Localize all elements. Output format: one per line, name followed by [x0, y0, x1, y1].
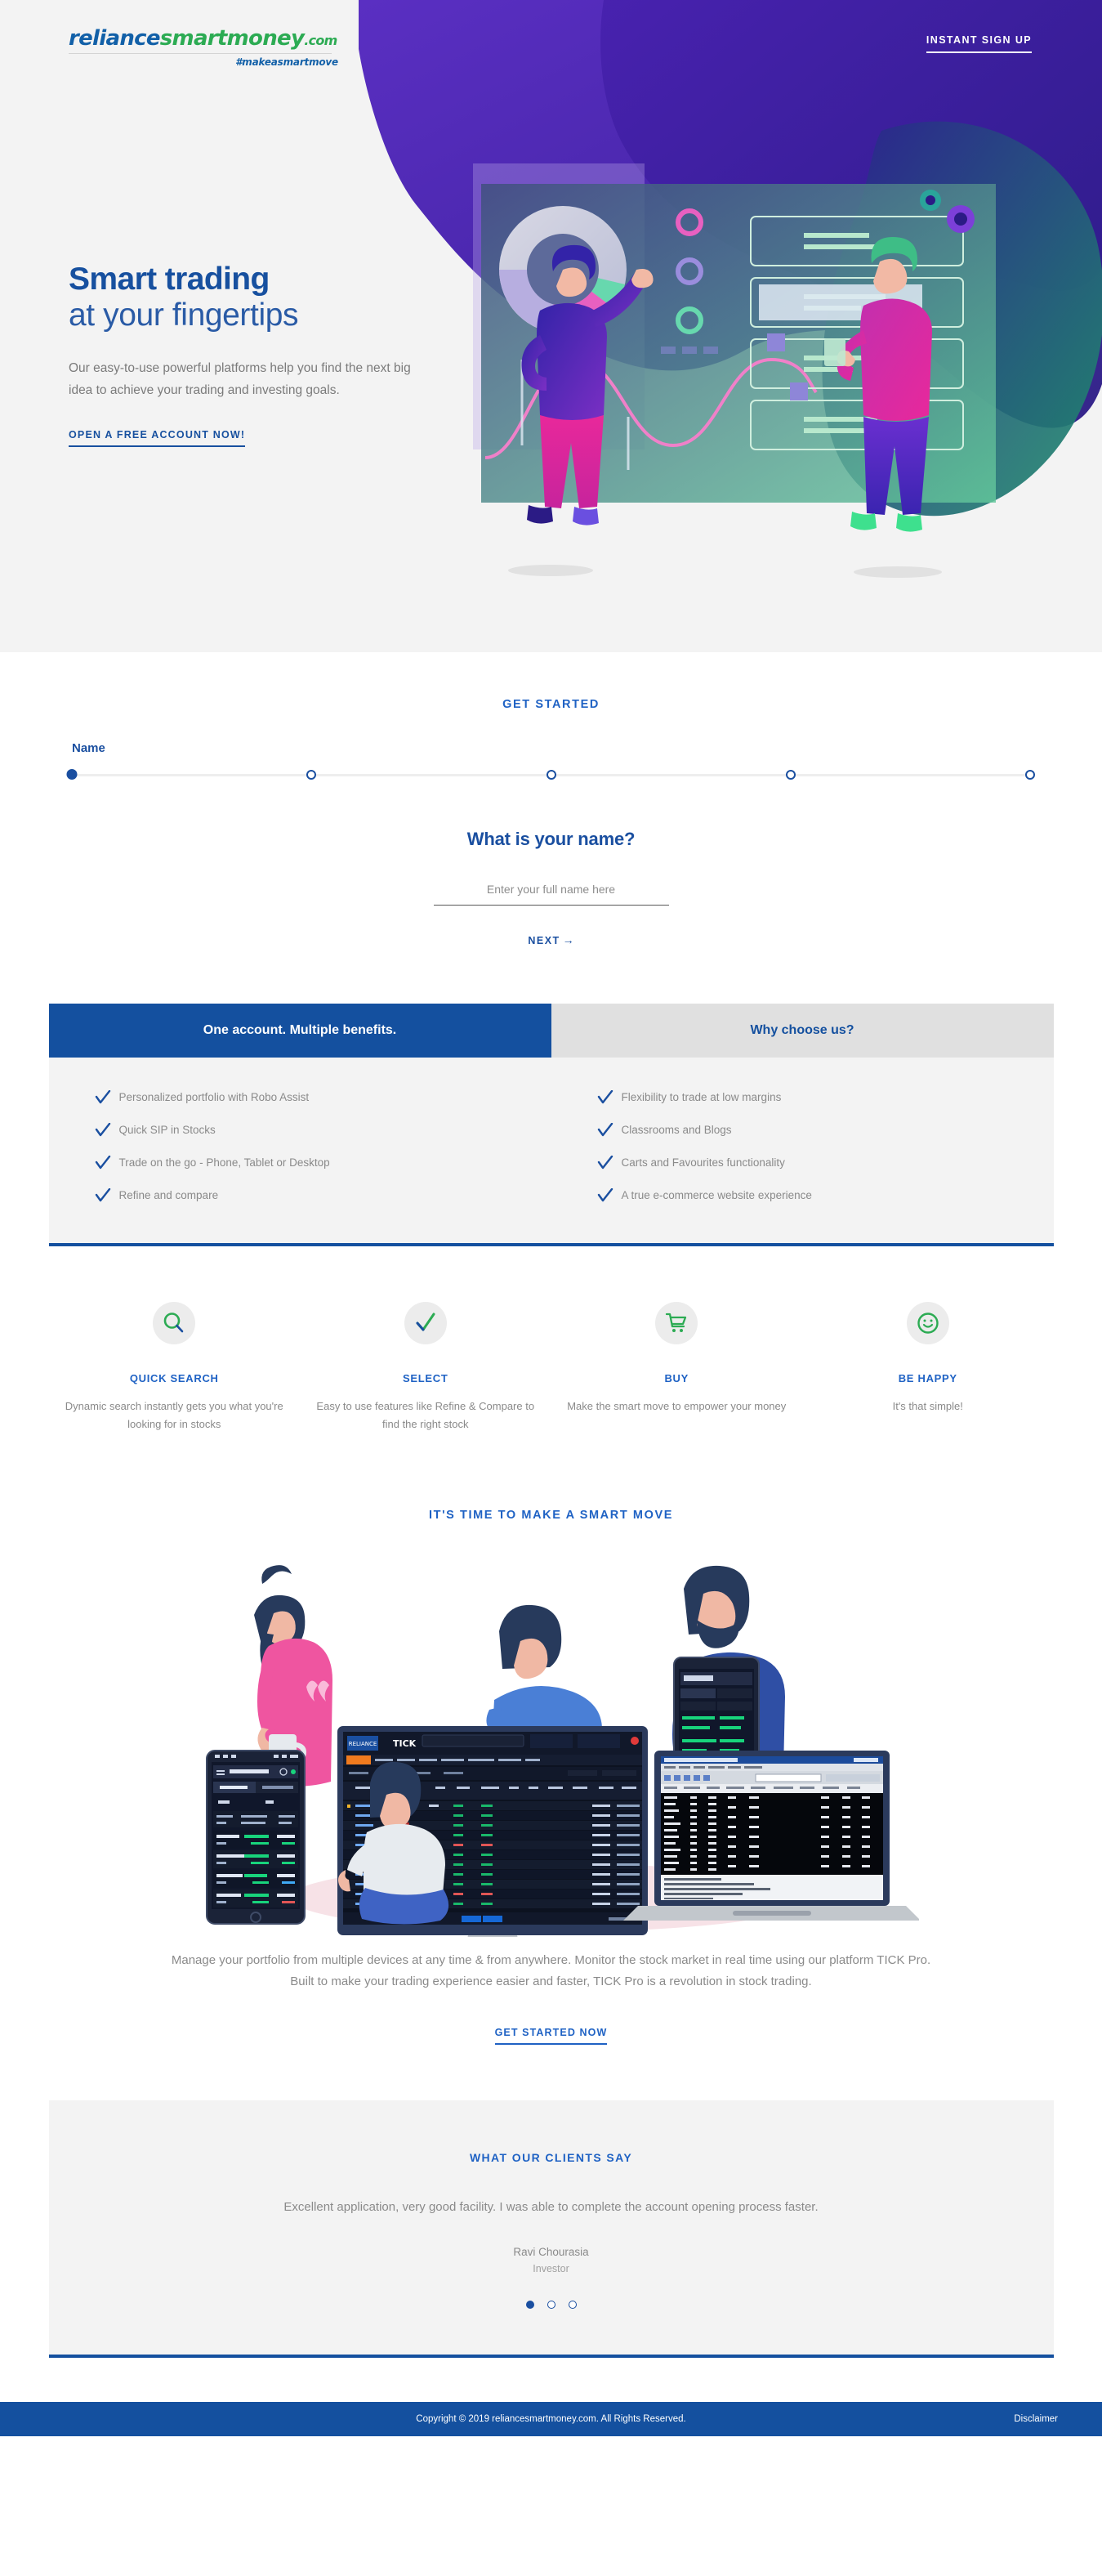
- benefit-item: Trade on the go - Phone, Tablet or Deskt…: [95, 1156, 551, 1171]
- logo-text-smartmoney: smartmoney: [160, 26, 304, 51]
- site-logo[interactable]: reliancesmartmoney.com #makeasmartmove: [69, 28, 338, 68]
- benefit-item: Quick SIP in Stocks: [95, 1123, 551, 1138]
- check-icon: [597, 1123, 622, 1138]
- feature-description: Make the smart move to empower your mone…: [566, 1398, 788, 1415]
- feature-select: SELECT Easy to use features like Refine …: [300, 1302, 551, 1434]
- form-question: What is your name?: [0, 829, 1102, 850]
- testimonial-dot-1[interactable]: [526, 2301, 534, 2309]
- testimonial-title: WHAT OUR CLIENTS SAY: [49, 2151, 1054, 2164]
- features-section: QUICK SEARCH Dynamic search instantly ge…: [49, 1246, 1054, 1467]
- progress-step-4[interactable]: [786, 770, 796, 780]
- magnifier-icon: [153, 1302, 195, 1344]
- feature-title: SELECT: [315, 1372, 537, 1384]
- feature-description: Dynamic search instantly gets you what y…: [64, 1398, 286, 1434]
- progress-step-1[interactable]: [67, 769, 78, 780]
- testimonial-quote: Excellent application, very good facilit…: [249, 2197, 854, 2218]
- footer-disclaimer-link[interactable]: Disclaimer: [1014, 2414, 1058, 2424]
- benefits-column-left: Personalized portfolio with Robo Assist …: [49, 1090, 551, 1204]
- open-free-account-button[interactable]: OPEN A FREE ACCOUNT NOW!: [69, 429, 245, 447]
- check-icon: [95, 1123, 119, 1138]
- progress-step-2[interactable]: [306, 770, 316, 780]
- benefit-item: Classrooms and Blogs: [597, 1123, 1054, 1138]
- check-icon: [597, 1090, 622, 1105]
- hero-illustration: [359, 0, 1102, 621]
- get-started-section: GET STARTED Name What is your name? NEXT…: [0, 652, 1102, 946]
- testimonial-pagination: [49, 2301, 1054, 2309]
- arrow-right-icon: →: [563, 933, 574, 946]
- feature-be-happy: BE HAPPY It's that simple!: [802, 1302, 1054, 1434]
- next-step-label: NEXT: [528, 935, 560, 946]
- get-started-title: GET STARTED: [0, 698, 1102, 711]
- feature-quick-search: QUICK SEARCH Dynamic search instantly ge…: [49, 1302, 301, 1434]
- smart-move-title: IT'S TIME TO MAKE A SMART MOVE: [0, 1509, 1102, 1522]
- full-name-input[interactable]: [434, 878, 669, 906]
- check-icon: [95, 1156, 119, 1170]
- feature-title: QUICK SEARCH: [64, 1372, 286, 1384]
- footer-copyright: Copyright © 2019 reliancesmartmoney.com.…: [0, 2414, 1102, 2424]
- feature-description: Easy to use features like Refine & Compa…: [315, 1398, 537, 1434]
- current-step-label: Name: [72, 741, 1102, 755]
- benefit-label: Refine and compare: [119, 1188, 219, 1204]
- hero-paragraph: Our easy-to-use powerful platforms help …: [69, 358, 428, 401]
- svg-text:RELIANCE: RELIANCE: [348, 1741, 377, 1747]
- testimonial-dot-2[interactable]: [547, 2301, 555, 2309]
- check-icon: [597, 1156, 622, 1170]
- check-icon: [597, 1188, 622, 1203]
- tab-bar: One account. Multiple benefits. Why choo…: [49, 1004, 1054, 1058]
- benefits-tabs-section: One account. Multiple benefits. Why choo…: [49, 1004, 1054, 1243]
- footer: Copyright © 2019 reliancesmartmoney.com.…: [0, 2402, 1102, 2436]
- benefit-label: Personalized portfolio with Robo Assist: [119, 1090, 310, 1106]
- logo-text-reliance: reliance: [69, 26, 160, 51]
- testimonial-section: WHAT OUR CLIENTS SAY Excellent applicati…: [49, 2100, 1054, 2355]
- get-started-now-button[interactable]: GET STARTED NOW: [495, 2027, 608, 2045]
- benefit-label: Carts and Favourites functionality: [622, 1156, 785, 1171]
- hero-copy: Smart trading at your fingertips Our eas…: [69, 262, 453, 447]
- smiley-icon: [907, 1302, 949, 1344]
- progress-step-3[interactable]: [547, 770, 556, 780]
- progress-step-5[interactable]: [1025, 770, 1035, 780]
- instant-signup-link[interactable]: INSTANT SIGN UP: [926, 34, 1032, 53]
- hero-heading-line2: at your fingertips: [69, 297, 453, 333]
- hero-heading: Smart trading at your fingertips: [69, 262, 453, 333]
- benefit-label: Classrooms and Blogs: [622, 1123, 732, 1138]
- logo-wordmark: reliancesmartmoney.com: [69, 28, 338, 49]
- smart-move-description: Manage your portfolio from multiple devi…: [163, 1950, 939, 1992]
- tab-one-account[interactable]: One account. Multiple benefits.: [49, 1004, 551, 1058]
- benefit-label: Trade on the go - Phone, Tablet or Deskt…: [119, 1156, 330, 1171]
- tab-why-choose-us[interactable]: Why choose us?: [551, 1004, 1054, 1058]
- feature-description: It's that simple!: [817, 1398, 1039, 1415]
- benefits-column-right: Flexibility to trade at low margins Clas…: [551, 1090, 1054, 1204]
- feature-title: BE HAPPY: [817, 1372, 1039, 1384]
- testimonial-dot-3[interactable]: [569, 2301, 577, 2309]
- check-icon: [404, 1302, 447, 1344]
- check-icon: [95, 1090, 119, 1105]
- feature-title: BUY: [566, 1372, 788, 1384]
- testimonial-role: Investor: [49, 2263, 1054, 2274]
- hero-section: reliancesmartmoney.com #makeasmartmove I…: [0, 0, 1102, 652]
- benefit-item: A true e-commerce website experience: [597, 1188, 1054, 1204]
- benefit-item: Refine and compare: [95, 1188, 551, 1204]
- feature-buy: BUY Make the smart move to empower your …: [551, 1302, 803, 1434]
- benefit-item: Flexibility to trade at low margins: [597, 1090, 1054, 1106]
- testimonial-author: Ravi Chourasia: [49, 2246, 1054, 2258]
- cart-icon: [655, 1302, 698, 1344]
- logo-tagline: #makeasmartmove: [69, 56, 338, 68]
- benefit-item: Personalized portfolio with Robo Assist: [95, 1090, 551, 1106]
- logo-divider: [69, 53, 332, 54]
- tab-panel: Personalized portfolio with Robo Assist …: [49, 1058, 1054, 1243]
- benefit-item: Carts and Favourites functionality: [597, 1156, 1054, 1171]
- benefit-label: A true e-commerce website experience: [622, 1188, 812, 1204]
- next-step-button[interactable]: NEXT→: [528, 933, 573, 946]
- logo-text-dotcom: .com: [304, 33, 337, 48]
- benefit-label: Flexibility to trade at low margins: [622, 1090, 782, 1106]
- section-divider-blue-bottom: [49, 2355, 1054, 2358]
- hero-heading-line1: Smart trading: [69, 262, 453, 297]
- devices-illustration: RELIANCE TICK: [184, 1545, 919, 1937]
- benefit-label: Quick SIP in Stocks: [119, 1123, 216, 1138]
- check-icon: [95, 1188, 119, 1203]
- smart-move-section: IT'S TIME TO MAKE A SMART MOVE: [0, 1466, 1102, 2045]
- svg-text:TICK: TICK: [393, 1738, 417, 1749]
- name-input-wrap: [434, 878, 669, 906]
- step-progress-bar: [72, 770, 1030, 780]
